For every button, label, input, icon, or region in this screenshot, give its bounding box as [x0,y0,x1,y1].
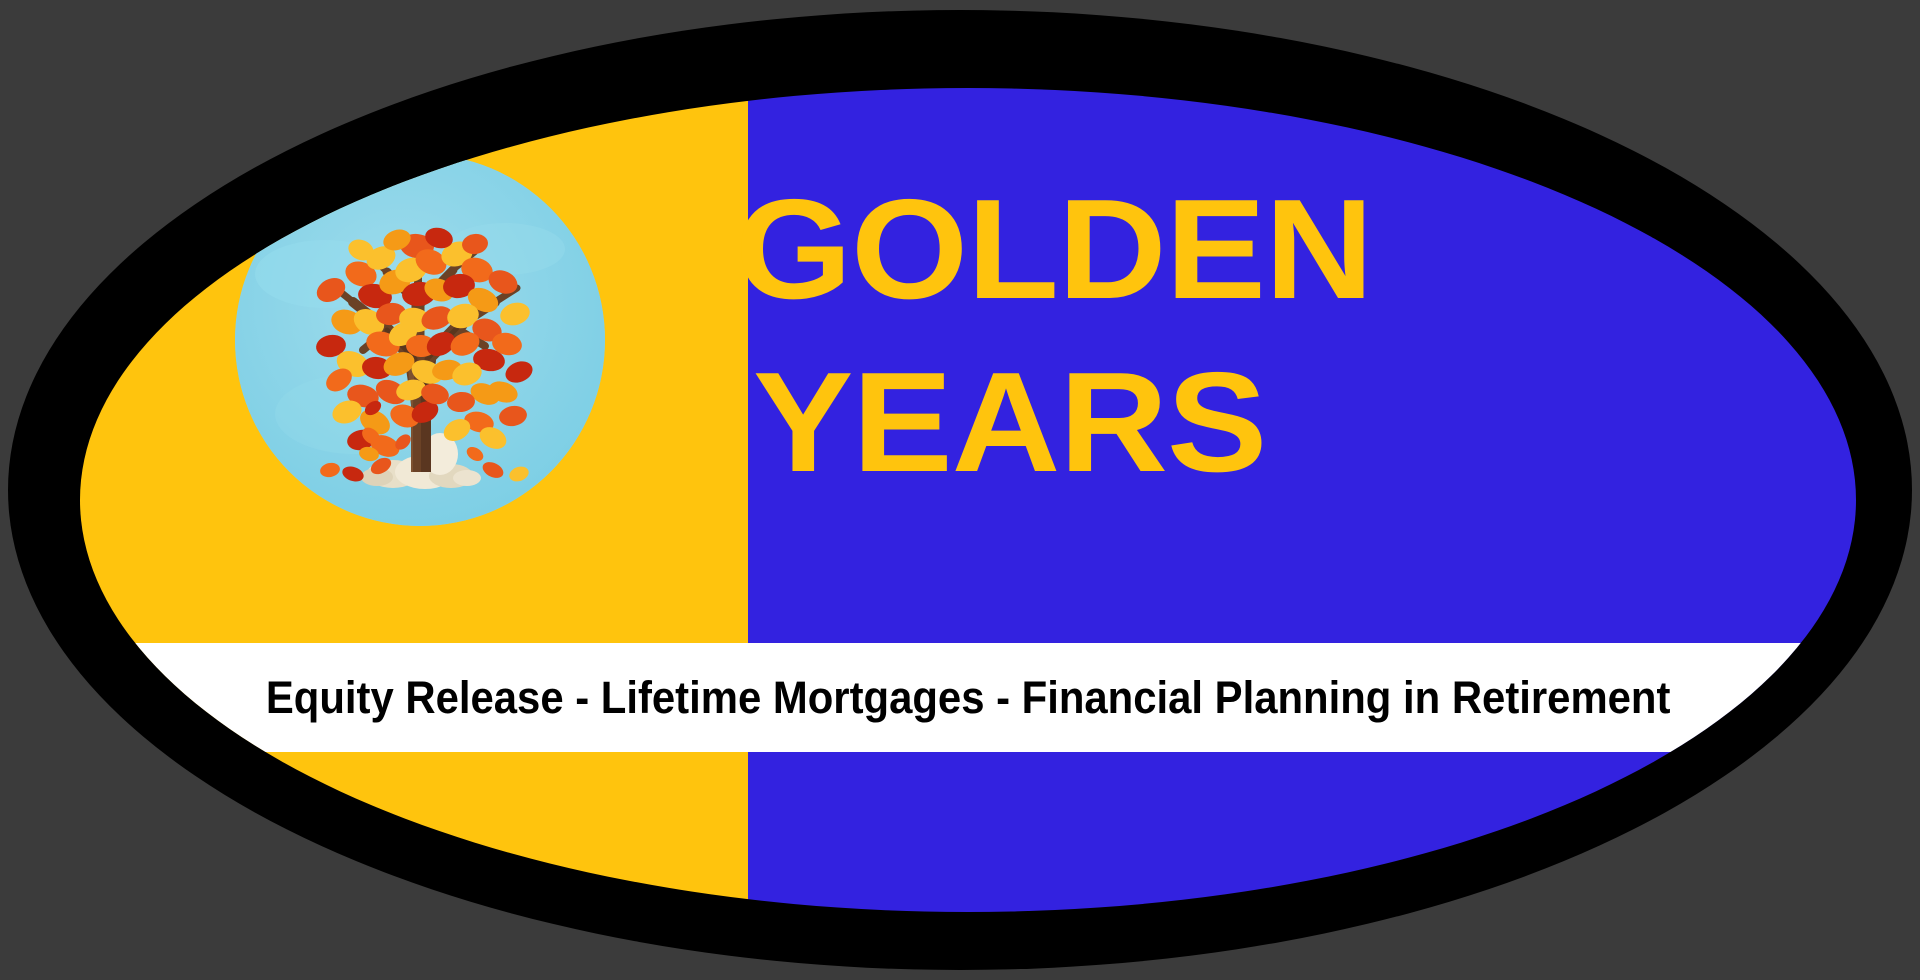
tagline-band: Equity Release - Lifetime Mortgages - Fi… [80,643,1856,752]
brand-line-golden: GOLDEN [735,183,1795,318]
brand-line-years: YEARS [753,356,1794,491]
autumn-tree-emblem [235,154,605,526]
logo-outer-ellipse-ring: GOLDEN YEARS Equity Release - Lifetime M… [8,10,1912,970]
brand-wordmark: GOLDEN YEARS [735,183,1735,491]
tagline-text: Equity Release - Lifetime Mortgages - Fi… [266,672,1671,724]
logo-canvas: GOLDEN YEARS Equity Release - Lifetime M… [0,0,1920,980]
logo-inner-ellipse: GOLDEN YEARS Equity Release - Lifetime M… [80,88,1856,912]
